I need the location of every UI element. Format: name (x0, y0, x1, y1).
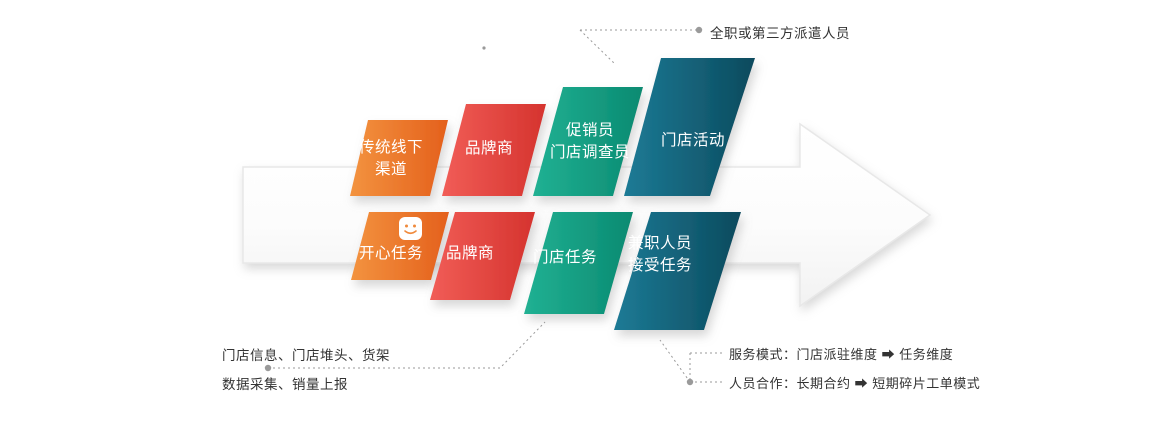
leader-bottom-right (660, 340, 690, 382)
leader-dot-small (482, 46, 485, 49)
smile-icon (399, 217, 422, 240)
diagram-shapes (0, 0, 1150, 430)
diagram-canvas: 传统线下 渠道 品牌商 促销员 门店调查员 门店活动 开心任务 品牌商 门店任务… (0, 0, 1150, 430)
annotation-bottom-right-2: 人员合作：长期合约 ➡ 短期碎片工单模式 (729, 374, 980, 394)
top-row-shapes (350, 58, 755, 196)
leader-dot-top-right (696, 27, 702, 33)
annotation-top-right: 全职或第三方派遣人员 (710, 24, 850, 44)
annotation-bottom-left-1: 门店信息、门店堆头、货架 (222, 346, 390, 366)
leader-dot-bottom-right (687, 379, 693, 385)
leader-top-right-diag (580, 30, 615, 64)
annotation-bottom-right-1: 服务模式：门店派驻维度 ➡ 任务维度 (729, 345, 953, 365)
annotation-bottom-left-2: 数据采集、销量上报 (222, 375, 348, 395)
